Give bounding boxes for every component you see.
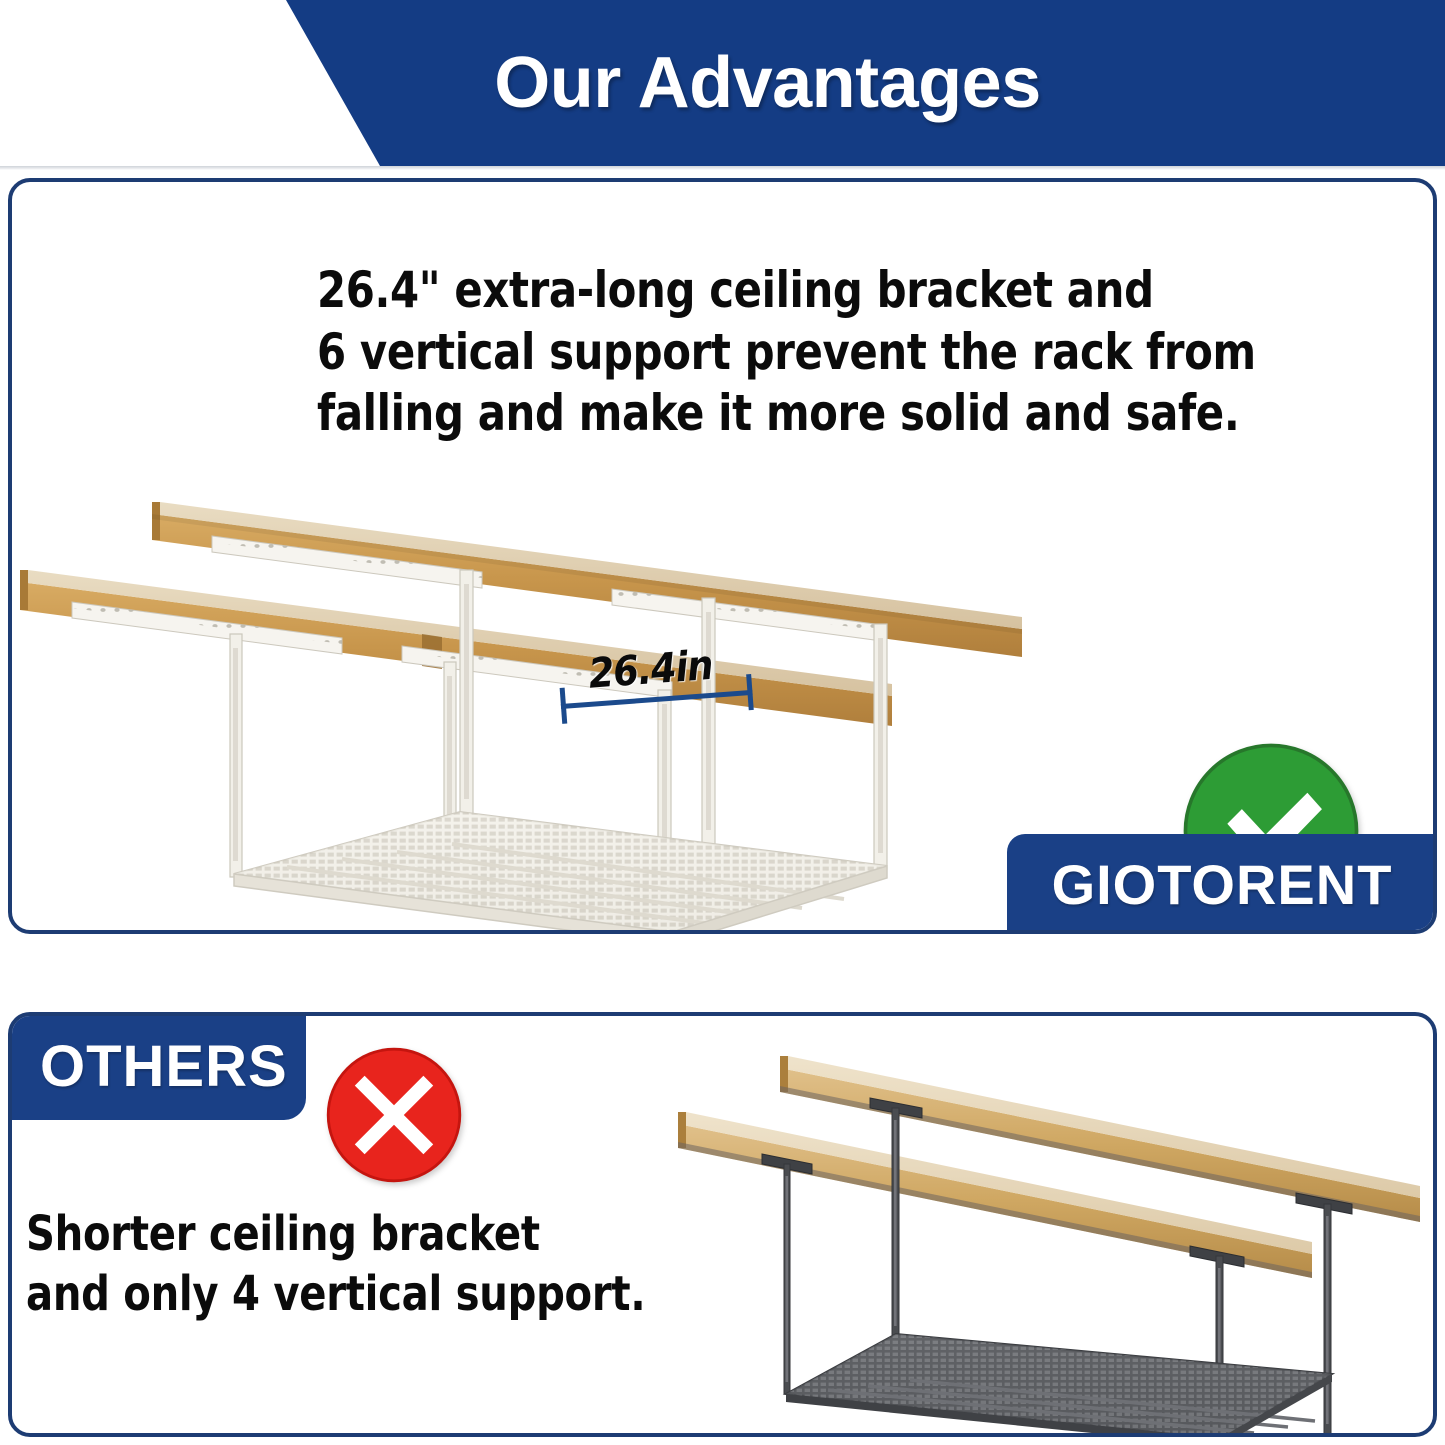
others-caption-line-2: and only 4 vertical support. <box>26 1264 770 1324</box>
wire-mesh-deck <box>234 812 887 934</box>
others-panel: OTHERS <box>8 1012 1437 1437</box>
advantage-panel: 26.4" extra-long ceiling bracket and 6 v… <box>8 178 1437 934</box>
others-badge: OTHERS <box>8 1012 306 1120</box>
brand-badge: GIOTORENT <box>1007 834 1437 934</box>
headline-line-2: 6 vertical support prevent the rack from <box>317 322 1331 384</box>
others-label: OTHERS <box>40 1033 288 1100</box>
headline-line-3: falling and make it more solid and safe. <box>317 383 1331 445</box>
red-x-icon <box>324 1045 464 1185</box>
advantage-headline: 26.4" extra-long ceiling bracket and 6 v… <box>317 260 1331 445</box>
dimension-cap-right <box>746 674 754 710</box>
product-illustration-giotorent-rack <box>12 474 1022 934</box>
others-caption-line-1: Shorter ceiling bracket <box>26 1204 770 1264</box>
wood-beam-rear-others <box>780 1056 1420 1222</box>
header-underline <box>0 166 1445 170</box>
product-illustration-others-rack <box>660 1046 1437 1436</box>
dimension-label: 26.4in <box>587 641 714 698</box>
wire-mesh-deck-others <box>786 1334 1332 1436</box>
brand-label: GIOTORENT <box>1052 852 1393 917</box>
others-caption: Shorter ceiling bracket and only 4 verti… <box>26 1204 770 1325</box>
page-title: Our Advantages <box>0 0 1445 166</box>
header-banner: Our Advantages <box>0 0 1445 166</box>
headline-line-1: 26.4" extra-long ceiling bracket and <box>317 260 1331 322</box>
